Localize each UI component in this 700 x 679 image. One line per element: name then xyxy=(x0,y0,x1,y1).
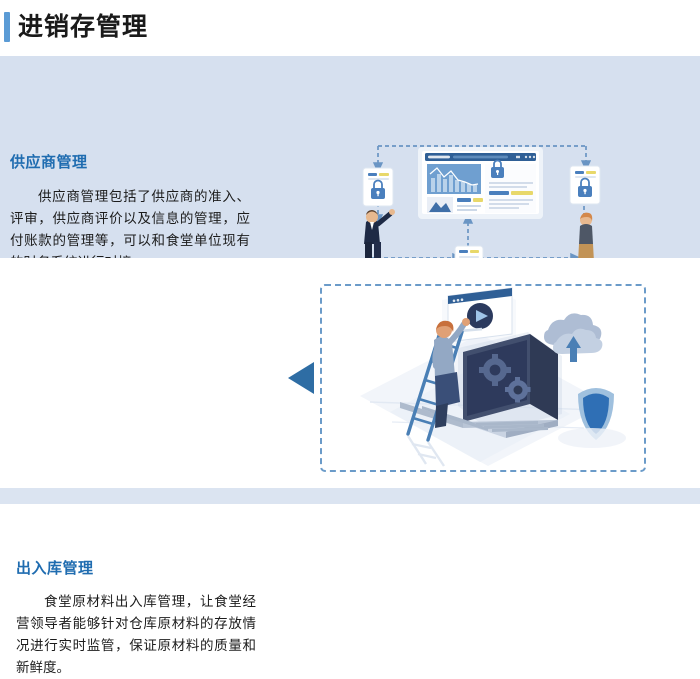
play-button xyxy=(467,303,493,329)
section-heading-supplier: 供应商管理 xyxy=(10,151,88,172)
footer-band xyxy=(0,488,700,504)
title-accent-bar xyxy=(4,12,10,42)
shield-shadow xyxy=(558,428,626,448)
warehouse-monitoring-illustration xyxy=(330,286,640,468)
ladder-reflection xyxy=(408,436,444,466)
bar-line-chart xyxy=(427,164,481,194)
lock-badge-card-left xyxy=(363,168,393,206)
page-header: 进销存管理 xyxy=(0,0,700,56)
triangle-pointer-icon xyxy=(288,362,314,394)
lock-badge-card-right xyxy=(570,166,600,204)
section-heading-inbound: 出入库管理 xyxy=(16,557,94,578)
section-body-inbound: 食堂原材料出入库管理，让食堂经营领导者能够针对仓库原材料的存放情况进行实时监管，… xyxy=(16,591,256,679)
browser-dashboard-screen xyxy=(418,147,543,219)
section-supplier-management: 供应商管理 供应商管理包括了供应商的准入、评审，供应商评价以及信息的管理，应付账… xyxy=(0,56,700,258)
page-title: 进销存管理 xyxy=(18,11,148,43)
